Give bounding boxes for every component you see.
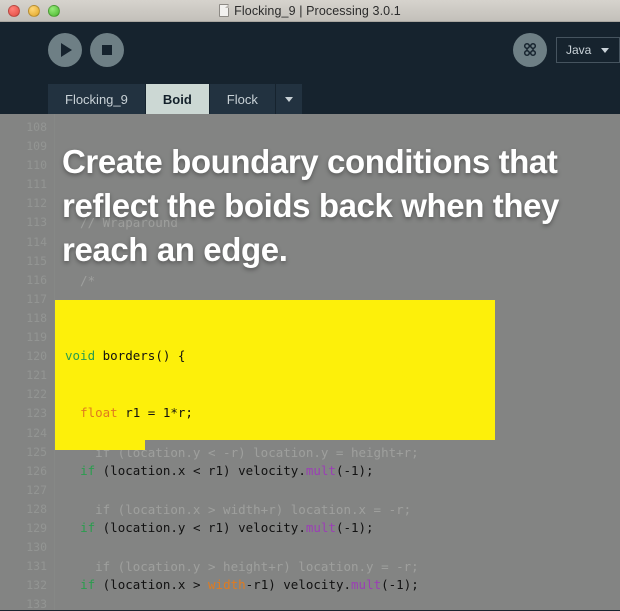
run-button[interactable] <box>48 33 82 67</box>
main-toolbar: Java <box>0 22 620 78</box>
stop-icon <box>102 45 112 55</box>
code-editor[interactable]: 108 109 110 111 112 113 114 115 116 117 … <box>0 114 620 610</box>
line-number: 123 <box>0 404 54 423</box>
mode-selector[interactable]: Java <box>556 37 620 63</box>
tab-overflow-button[interactable] <box>276 84 302 114</box>
tab-label: Boid <box>163 92 192 107</box>
line-number: 117 <box>0 290 54 309</box>
document-icon <box>219 4 229 17</box>
line-number: 121 <box>0 366 54 385</box>
code-line: /* <box>65 271 620 290</box>
line-number: 129 <box>0 519 54 538</box>
line-number: 126 <box>0 462 54 481</box>
code-line: if (location.x > width+r) location.x = -… <box>65 500 620 519</box>
stop-button[interactable] <box>90 33 124 67</box>
tab-label: Flock <box>227 92 258 107</box>
code-line: if (location.y < -r) location.y = height… <box>65 443 620 462</box>
line-number: 124 <box>0 424 54 443</box>
code-line: if (location.x < -r) location.x = width+… <box>65 385 620 404</box>
line-number: 115 <box>0 252 54 271</box>
sketch-tabbar: Flocking_9 Boid Flock <box>0 78 620 114</box>
line-number: 118 <box>0 309 54 328</box>
line-number: 132 <box>0 576 54 595</box>
debugger-button[interactable] <box>513 33 547 67</box>
line-number: 122 <box>0 385 54 404</box>
line-number: 127 <box>0 481 54 500</box>
line-number: 114 <box>0 233 54 252</box>
play-icon <box>61 43 72 57</box>
tab-label: Flocking_9 <box>65 92 128 107</box>
tab-flock[interactable]: Flock <box>210 84 275 114</box>
tab-boid[interactable]: Boid <box>146 84 209 114</box>
window-title: Flocking_9 | Processing 3.0.1 <box>0 4 620 18</box>
line-number: 108 <box>0 118 54 137</box>
code-line <box>65 156 620 175</box>
line-number: 128 <box>0 500 54 519</box>
code-line: // Wraparound <box>65 213 620 232</box>
chevron-down-icon <box>285 97 293 102</box>
line-number: 130 <box>0 538 54 557</box>
mode-selector-label: Java <box>566 43 591 57</box>
line-number: 110 <box>0 156 54 175</box>
code-text[interactable]: // Wraparound /* void borders() { if (lo… <box>55 114 620 610</box>
code-line: if (location.y > height+r) location.y = … <box>65 557 620 576</box>
line-number: 120 <box>0 347 54 366</box>
toolbar-right-group: Java <box>513 22 620 78</box>
line-number: 116 <box>0 271 54 290</box>
window-title-text: Flocking_9 | Processing 3.0.1 <box>234 4 401 18</box>
line-number: 109 <box>0 137 54 156</box>
debugger-icon <box>520 40 540 60</box>
line-number: 131 <box>0 557 54 576</box>
line-number: 125 <box>0 443 54 462</box>
tab-flocking-9[interactable]: Flocking_9 <box>48 84 145 114</box>
line-number: 113 <box>0 213 54 232</box>
chevron-down-icon <box>601 48 609 53</box>
line-number: 112 <box>0 194 54 213</box>
processing-ide-window: Flocking_9 | Processing 3.0.1 <box>0 0 620 611</box>
window-titlebar: Flocking_9 | Processing 3.0.1 <box>0 0 620 22</box>
line-number-gutter: 108 109 110 111 112 113 114 115 116 117 … <box>0 114 55 610</box>
line-number: 119 <box>0 328 54 347</box>
line-number: 111 <box>0 175 54 194</box>
code-line: void borders() { <box>65 328 620 347</box>
line-number: 133 <box>0 595 54 610</box>
